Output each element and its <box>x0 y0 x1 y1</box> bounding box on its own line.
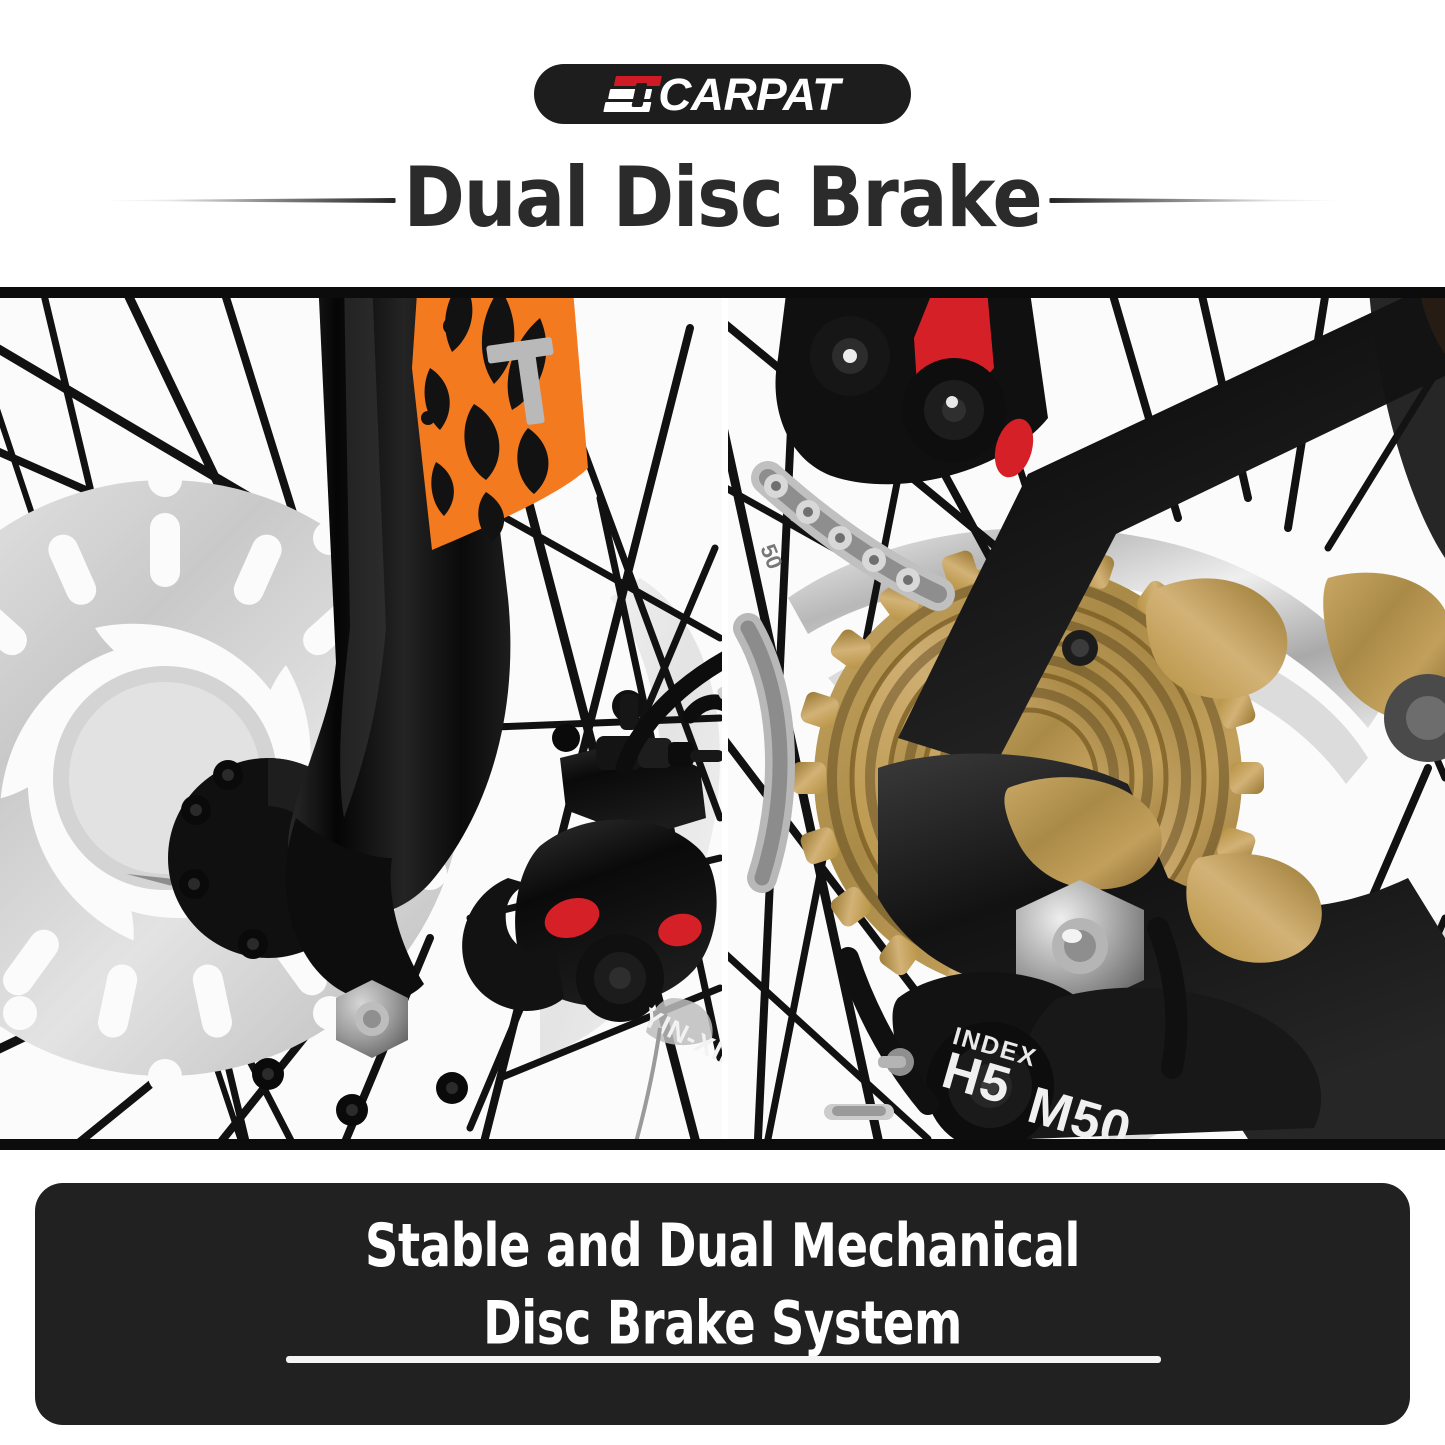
rear-derailleur-illustration: 50 <box>728 298 1445 1139</box>
e-chevron-logo-icon <box>603 76 661 113</box>
logo-bar-white-bottom <box>603 102 651 112</box>
tapered-rule-right-icon <box>1049 148 1339 248</box>
brand-name-text: CARPAT <box>658 69 839 120</box>
front-disc-brake-photo: YIN-XING <box>0 298 722 1139</box>
tapered-rule-left-icon <box>106 148 396 248</box>
brand-logo: CARPAT <box>534 64 911 124</box>
photo-divider <box>722 298 728 1139</box>
caption-text: Stable and Dual Mechanical Disc Brake Sy… <box>90 1209 1355 1363</box>
page-title: Dual Disc Brake <box>404 157 1042 240</box>
headline-row: Dual Disc Brake <box>0 148 1445 248</box>
caption-box: Stable and Dual Mechanical Disc Brake Sy… <box>35 1183 1410 1425</box>
rear-derailleur-photo: 50 <box>728 298 1445 1139</box>
product-photo-panel: YIN-XING <box>0 287 1445 1150</box>
caption-line-2: Disc Brake System <box>90 1286 1355 1363</box>
header: CARPAT Dual Disc Brake <box>0 0 1445 287</box>
front-disc-brake-illustration: YIN-XING <box>0 298 722 1139</box>
caption-divider <box>286 1356 1161 1363</box>
brand-name: CARPAT <box>658 72 839 117</box>
caption-line-1: Stable and Dual Mechanical <box>90 1209 1355 1286</box>
